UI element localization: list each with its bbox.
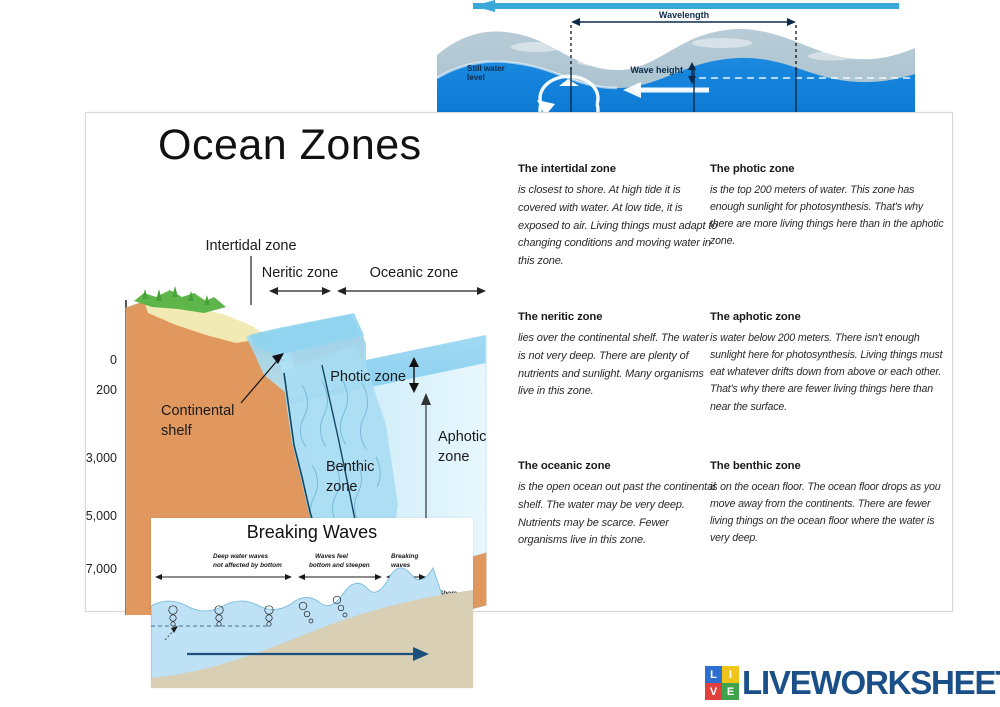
zone-body: is the top 200 meters of water. This zon… xyxy=(710,182,948,251)
zone-block-intertidal: The intertidal zone is closest to shore.… xyxy=(518,163,718,271)
label-benthic-zone-line2: zone xyxy=(326,479,357,495)
logo-tile-i: I xyxy=(722,666,739,683)
label-still-water-line1: Still water xyxy=(467,64,505,73)
label-wavelength: Wavelength xyxy=(659,10,709,20)
label-photic-zone: Photic zone xyxy=(330,369,406,385)
label-intertidal-zone: Intertidal zone xyxy=(205,238,296,254)
zone-body: is closest to shore. At high tide it is … xyxy=(518,182,718,271)
logo-tile-l: L xyxy=(705,666,722,683)
zone-descriptions: The intertidal zone is closest to shore.… xyxy=(518,163,948,613)
worksheet-page: Wavelength Wave height Still water level… xyxy=(0,0,1000,707)
logo-wordmark: LIVEWORKSHEETS xyxy=(742,664,1000,702)
label-deep-water-line2: not affected by bottom xyxy=(213,562,282,569)
zone-body: is water below 200 meters. There isn't e… xyxy=(710,330,948,416)
liveworksheets-logo[interactable]: L I V E LIVEWORKSHEETS xyxy=(705,663,1000,703)
label-waves-feel-line1: Waves feel xyxy=(315,553,348,560)
zone-body: lies over the continental shelf. The wat… xyxy=(518,330,718,401)
zone-body: is on the ocean floor. The ocean floor d… xyxy=(710,479,948,548)
label-continental-shelf-line1: Continental xyxy=(161,403,234,419)
zone-heading: The photic zone xyxy=(710,163,948,175)
zone-heading: The aphotic zone xyxy=(710,311,948,323)
breaking-waves-inset: Breaking Waves Deep water waves not affe… xyxy=(151,518,473,688)
zone-heading: The benthic zone xyxy=(710,460,948,472)
zone-heading: The neritic zone xyxy=(518,311,718,323)
label-neritic-zone: Neritic zone xyxy=(262,265,339,281)
logo-tile-v: V xyxy=(705,683,722,700)
logo-tile-e: E xyxy=(722,683,739,700)
label-breaking-line1: Breaking xyxy=(391,553,418,560)
svg-text:5,000: 5,000 xyxy=(86,509,117,523)
zone-block-benthic: The benthic zone is on the ocean floor. … xyxy=(710,460,948,548)
zone-heading: The intertidal zone xyxy=(518,163,718,175)
label-oceanic-zone: Oceanic zone xyxy=(370,265,459,281)
svg-text:7,000: 7,000 xyxy=(86,562,117,576)
zone-block-photic: The photic zone is the top 200 meters of… xyxy=(710,163,948,251)
label-continental-shelf-line2: shelf xyxy=(161,423,193,439)
zone-heading: The oceanic zone xyxy=(518,460,718,472)
breaking-zone-extent-arrows xyxy=(155,574,426,580)
logo-mark-icon: L I V E xyxy=(705,666,739,700)
zone-block-oceanic: The oceanic zone is the open ocean out p… xyxy=(518,460,718,550)
label-still-water-line2: level xyxy=(467,73,485,82)
label-aphotic-zone-line1: Aphotic xyxy=(438,429,486,445)
svg-text:9,000: 9,000 xyxy=(86,614,117,615)
label-waves-feel-line2: bottom and steepen xyxy=(309,562,370,569)
page-title: Ocean Zones xyxy=(158,121,422,170)
breaking-waves-title: Breaking Waves xyxy=(151,522,473,543)
svg-text:0: 0 xyxy=(110,353,117,367)
svg-text:200: 200 xyxy=(96,383,117,397)
zone-body: is the open ocean out past the continent… xyxy=(518,479,718,550)
label-deep-water-line1: Deep water waves xyxy=(213,553,269,560)
label-wave-height: Wave height xyxy=(630,65,683,75)
label-aphotic-zone-line2: zone xyxy=(438,449,469,465)
svg-text:3,000: 3,000 xyxy=(86,451,117,465)
zone-block-aphotic: The aphotic zone is water below 200 mete… xyxy=(710,311,948,416)
depth-axis: 0 200 3,000 5,000 7,000 9,000 xyxy=(86,353,117,615)
zone-extent-arrows xyxy=(269,287,486,295)
zone-block-neritic: The neritic zone lies over the continent… xyxy=(518,311,718,401)
label-benthic-zone-line1: Benthic xyxy=(326,459,374,475)
